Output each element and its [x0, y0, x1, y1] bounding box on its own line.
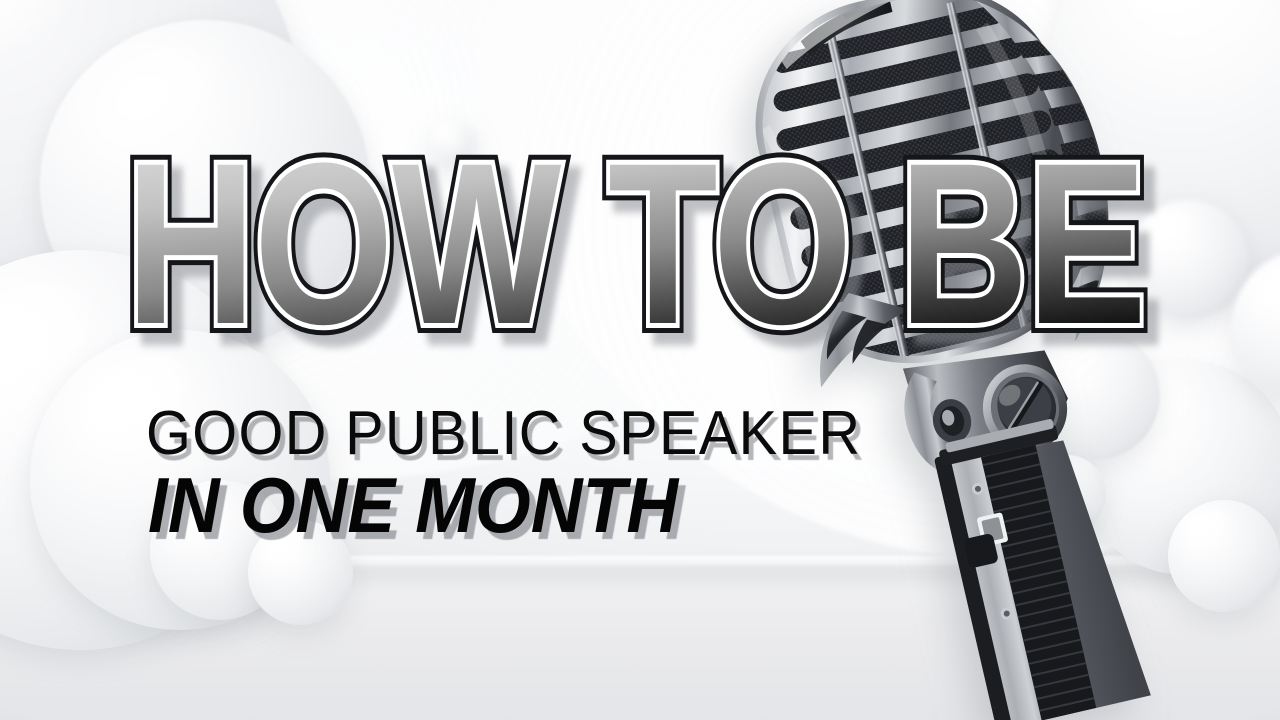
microphone-illustration — [690, 0, 1210, 720]
thumbnail-canvas: HOW TO BE HOW TO BE HOW TO BE HOW TO BE … — [0, 0, 1280, 720]
sphere-center-small — [430, 120, 476, 166]
sphere-left-tiny — [248, 520, 353, 625]
